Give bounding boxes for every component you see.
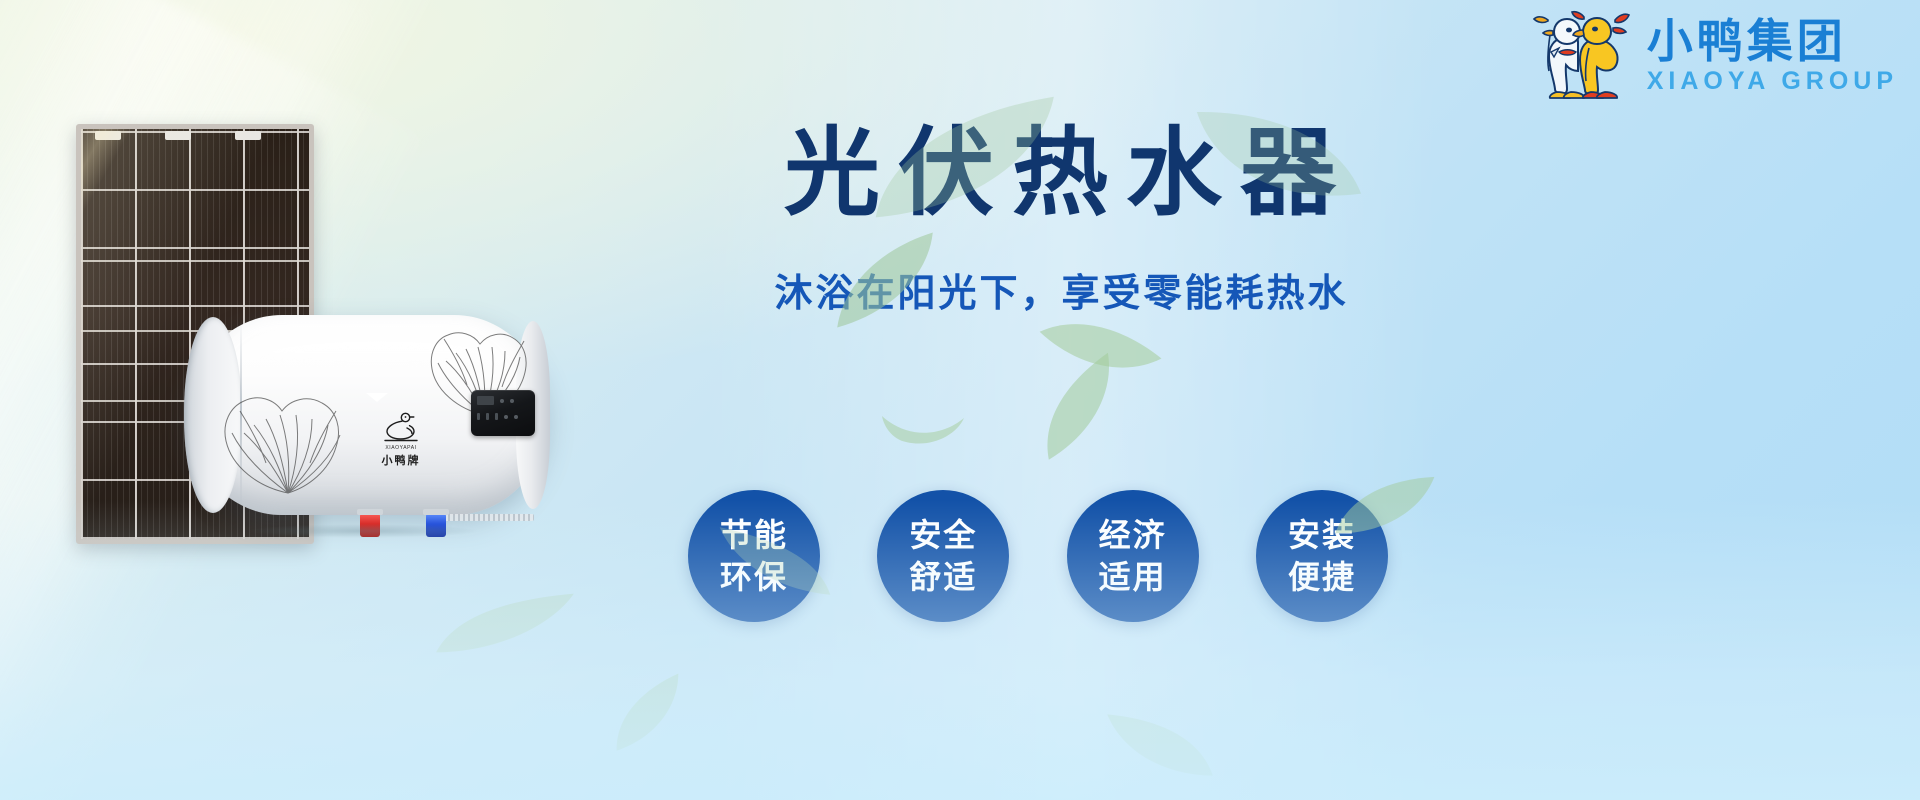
temperature-readout	[477, 396, 494, 405]
badge-line-2: 便捷	[1288, 556, 1356, 598]
badge-line-1: 经济	[1099, 514, 1167, 556]
brand-logo[interactable]: 小鸭集团 XIAOYA GROUP	[1529, 8, 1898, 104]
electric-water-heater-tank: XIAOYAPAI 小鸭牌	[188, 315, 548, 515]
logo-name-en: XIAOYA GROUP	[1647, 69, 1898, 94]
status-led	[477, 413, 480, 420]
feature-badge-easy-install[interactable]: 安装 便捷	[1256, 490, 1388, 622]
leaf-decor-icon	[1096, 708, 1224, 782]
badge-line-1: 安装	[1288, 514, 1356, 556]
badge-line-1: 安全	[909, 514, 977, 556]
badge-line-2: 环保	[720, 556, 788, 598]
status-led	[495, 413, 498, 420]
two-ducks-mascot-icon	[1529, 8, 1637, 104]
leaf-decor-icon	[427, 587, 583, 658]
logo-name-cn: 小鸭集团	[1647, 18, 1898, 64]
duck-icon	[381, 411, 421, 445]
leaf-decor-icon	[880, 412, 966, 446]
copy-block: 光伏热水器 沐浴在阳光下，享受零能耗热水	[690, 120, 1430, 317]
status-led	[486, 413, 489, 420]
page-subtitle: 沐浴在阳光下，享受零能耗热水	[690, 262, 1430, 317]
brand-cn: 小鸭牌	[364, 452, 438, 468]
feature-badge-safe-comfortable[interactable]: 安全 舒适	[877, 490, 1009, 622]
indicator-dot	[504, 415, 508, 419]
product-brand-mark: XIAOYAPAI 小鸭牌	[364, 411, 438, 468]
page-title: 光伏热水器	[690, 120, 1430, 228]
badge-line-2: 舒适	[909, 556, 977, 598]
badge-line-1: 节能	[720, 514, 788, 556]
badge-line-2: 适用	[1099, 556, 1167, 598]
brand-en: XIAOYAPAI	[364, 445, 438, 451]
promo-banner: 小鸭集团 XIAOYA GROUP	[0, 0, 1920, 800]
indicator-dot	[500, 399, 504, 403]
product-shadow	[198, 521, 528, 541]
lotus-fan-decal-icon	[218, 375, 358, 495]
leaf-decor-icon	[1016, 348, 1141, 465]
feature-badge-list: 节能 环保 安全 舒适 经济 适用 安装 便捷	[688, 490, 1388, 622]
feature-badge-energy-saving[interactable]: 节能 环保	[688, 490, 820, 622]
feature-badge-economical[interactable]: 经济 适用	[1067, 490, 1199, 622]
indicator-dot	[514, 415, 518, 419]
digital-display-panel[interactable]	[471, 390, 535, 436]
leaf-decor-icon	[595, 669, 701, 757]
vent-grille	[438, 514, 534, 521]
indicator-dot	[510, 399, 514, 403]
